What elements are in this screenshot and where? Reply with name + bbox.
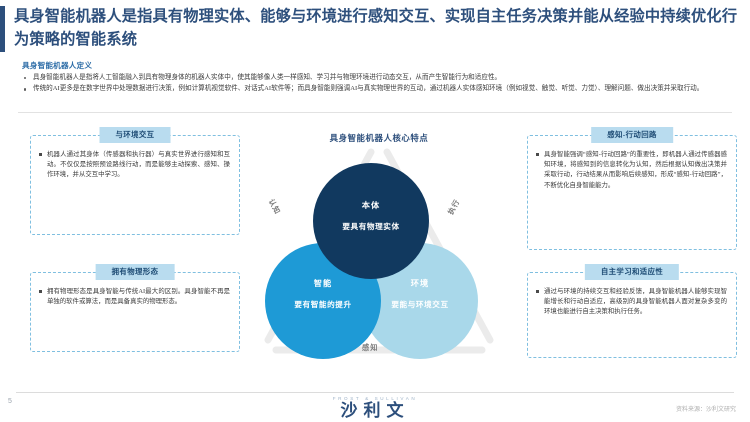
venn-label: 智能 [265,277,381,289]
brand-logo: FROST & SULLIVAN 沙利文 [0,396,750,420]
definition-bullet: 具身智能机器人是指将人工智能融入到具有物理身体的机器人实体中，使其能够像人类一样… [22,73,728,83]
feature-card-interaction: 与环境交互 机器人通过其身体（传感器和执行器）与真实世界进行感知和互动。不仅仅是… [30,135,240,235]
logo-wordmark: 沙利文 [0,401,750,420]
venn-sublabel: 要具有物理实体 [313,221,429,232]
feature-card-text: 机器人通过其身体（传感器和执行器）与真实世界进行感知和互动。不仅仅是按照预设路线… [31,136,239,187]
definition-section: 具身智能机器人定义 具身智能机器人是指将人工智能融入到具有物理身体的机器人实体中… [22,60,728,96]
frame-label-perception: 感知 [362,343,378,353]
feature-card-text: 拥有物理形态是具身智能与传统AI最大的区别。具身智能不再是单独的软件或算法，而是… [31,273,239,313]
feature-card-text: 具身智能强调“感知-行动回路”的重要性，即机器人通过传感器感知环境，将感知到的信… [528,136,736,197]
title-accent-bar [0,6,5,52]
feature-card-perception-action-loop: 感知-行动回路 具身智能强调“感知-行动回路”的重要性，即机器人通过传感器感知环… [527,135,737,250]
definition-heading: 具身智能机器人定义 [22,60,728,71]
venn-diagram: 具身智能机器人核心特点 环境 要能与环境交互 智能 要有智能的提升 本体 要具有… [250,128,508,370]
source-note: 资料来源：沙利文研究 [676,404,736,413]
venn-sublabel: 要有智能的提升 [265,299,381,310]
page-title: 具身智能机器人是指具有物理实体、能够与环境进行感知交互、实现自主任务决策并能从经… [14,5,742,51]
footer-divider [16,392,734,393]
page-title-bar: 具身智能机器人是指具有物理实体、能够与环境进行感知交互、实现自主任务决策并能从经… [0,6,750,52]
definition-bullet: 传统的AI更多是在数字世界中处理数据进行决策，例如计算机视觉软件、对话式AI软件… [22,84,728,94]
feature-card-physical-form: 拥有物理形态 拥有物理形态是具身智能与传统AI最大的区别。具身智能不再是单独的软… [30,272,240,352]
venn-circle-body: 本体 要具有物理实体 [313,163,429,279]
venn-label: 本体 [313,199,429,211]
section-divider [18,112,732,113]
feature-card-text: 通过与环境的持续交互和经验反馈，具身智能机器人能够实现智能增长和行动自适应，高级… [528,273,736,324]
feature-card-autonomous-learning: 自主学习和适应性 通过与环境的持续交互和经验反馈，具身智能机器人能够实现智能增长… [527,272,737,358]
